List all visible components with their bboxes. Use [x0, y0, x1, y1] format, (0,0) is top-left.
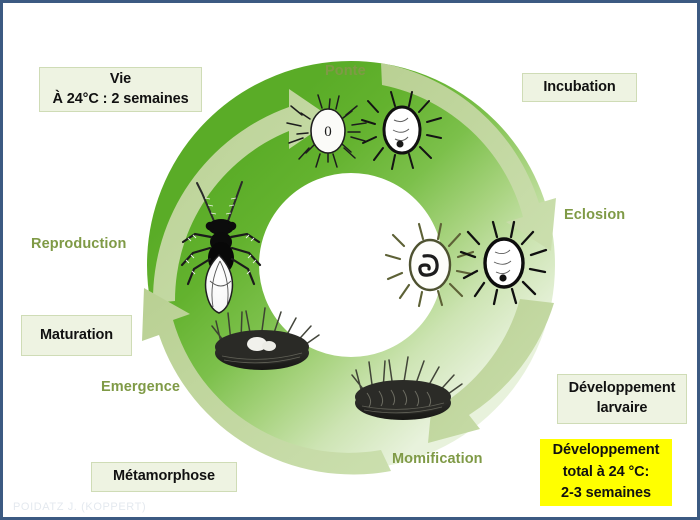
box-vie-line-1: Vie: [50, 70, 191, 90]
box-developpement-total: Développement total à 24 °C: 2-3 semaine…: [540, 439, 672, 506]
box-vie-line-2: À 24°C : 2 semaines: [50, 90, 191, 110]
box-developpement-total-line-3: 2-3 semaines: [551, 483, 661, 505]
box-developpement-larvaire-line-1: Développement: [568, 379, 676, 399]
box-developpement-total-line-1: Développement: [551, 440, 661, 462]
stage-label-momification: Momification: [392, 451, 483, 467]
stage-label-emergence: Emergence: [101, 379, 180, 395]
life-cycle-figure: 0: [0, 0, 700, 520]
box-vie: Vie À 24°C : 2 semaines: [39, 67, 202, 112]
stage-label-ponte: Ponte: [325, 63, 366, 79]
box-developpement-larvaire: Développement larvaire: [557, 374, 687, 424]
box-developpement-larvaire-line-2: larvaire: [568, 399, 676, 419]
watermark-credit: POIDATZ J. (KOPPERT): [13, 501, 146, 513]
stage-label-reproduction: Reproduction: [31, 236, 126, 252]
box-incubation: Incubation: [522, 73, 637, 102]
stage-label-eclosion: Eclosion: [564, 207, 625, 223]
box-metamorphose-line-1: Métamorphose: [113, 467, 215, 487]
box-maturation-line-1: Maturation: [40, 326, 113, 346]
box-incubation-line-1: Incubation: [543, 78, 615, 98]
svg-text:0: 0: [324, 124, 332, 140]
box-metamorphose: Métamorphose: [91, 462, 237, 492]
box-developpement-total-line-2: total à 24 °C:: [551, 462, 661, 484]
box-maturation: Maturation: [21, 315, 132, 356]
